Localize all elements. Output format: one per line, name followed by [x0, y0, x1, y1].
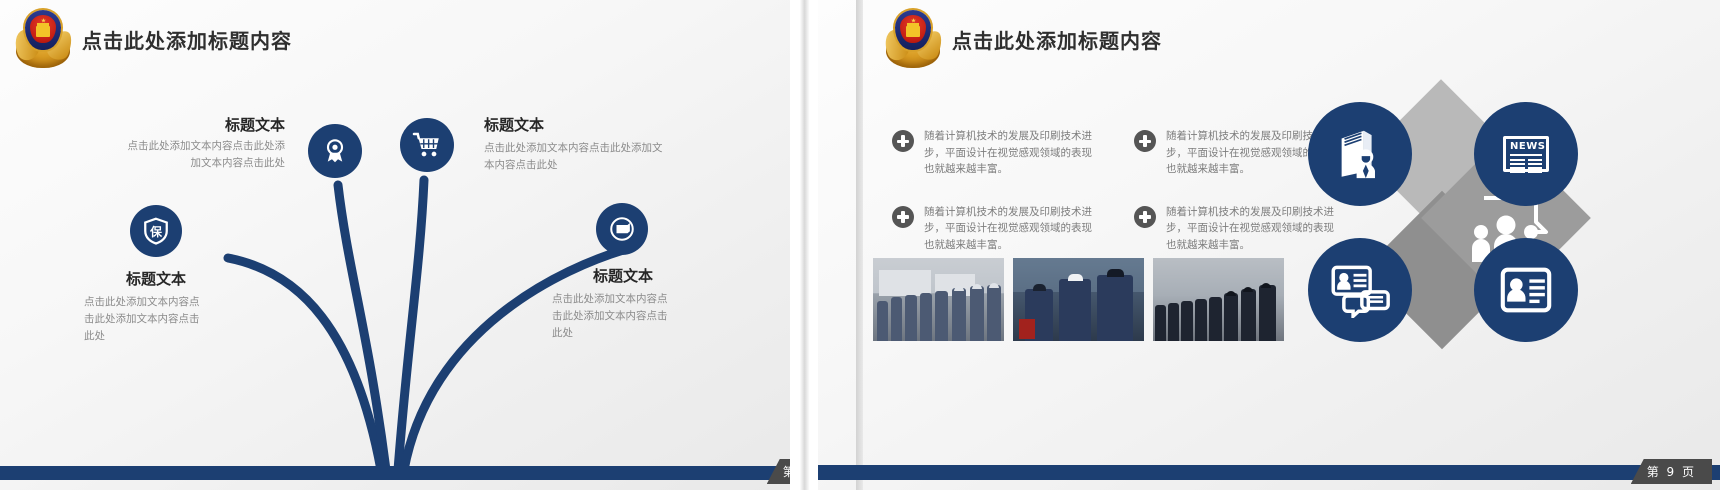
id-badge-icon [1497, 261, 1555, 319]
photo-police-officers-saluting[interactable] [1013, 258, 1144, 341]
circle-id-badge[interactable] [1474, 238, 1578, 342]
left-edge-rule [856, 0, 863, 490]
book-officer-icon [1331, 125, 1389, 183]
police-emblem-icon [884, 8, 942, 70]
node-award-icon-circle[interactable] [308, 124, 362, 178]
plus-icon [892, 206, 914, 228]
plus-icon [892, 130, 914, 152]
slide8-title: 点击此处添加标题内容 [82, 25, 292, 54]
bullet-text: 随着计算机技术的发展及印刷技术进步，平面设计在视觉感观领域的表现也就越来越丰富。 [924, 128, 1102, 178]
slide9-page-tab: 第 9 页 [1631, 459, 1712, 484]
slide8-page-label: 第 8 页 [783, 463, 790, 480]
bullet-item[interactable]: 随着计算机技术的发展及印刷技术进步，平面设计在视觉感观领域的表现也就越来越丰富。 [892, 128, 1102, 178]
plus-icon [1134, 130, 1156, 152]
slide9-page-label: 第 9 页 [1647, 463, 1696, 480]
node-award-body: 点击此处添加文本内容点击此处添 加文本内容点击此处 [20, 138, 285, 172]
news-label: NEWS [1510, 142, 1542, 156]
slide-page-8: 点击此处添加标题内容 标题文本 点击此处添加文本内容点击此处添 加文本内容点击此… [0, 0, 790, 490]
node-shield-body: 点击此处添加文本内容点 击此处添加文本内容点击 此处 [84, 294, 234, 345]
stem-lines-graphic [0, 0, 790, 490]
node-stamp-title: 标题文本 [548, 265, 698, 286]
node-cart-title: 标题文本 [484, 114, 744, 135]
bullet-grid: 随着计算机技术的发展及印刷技术进步，平面设计在视觉感观领域的表现也就越来越丰富。… [892, 128, 1344, 253]
diamond-icon-cluster: NEWS [1288, 96, 1688, 356]
node-award-title: 标题文本 [40, 114, 285, 135]
slide9-bottom-bar [818, 465, 1720, 480]
circle-id-chat[interactable] [1308, 238, 1412, 342]
police-emblem-icon [14, 8, 72, 70]
slide9-title: 点击此处添加标题内容 [952, 25, 1162, 54]
plus-icon [1134, 206, 1156, 228]
node-shield-icon-circle[interactable]: 保 [130, 205, 182, 257]
node-cart-body: 点击此处添加文本内容点击此处添加文 本内容点击此处 [484, 140, 764, 174]
presentation-stage: 点击此处添加标题内容 标题文本 点击此处添加文本内容点击此处添 加文本内容点击此… [0, 0, 1720, 490]
circle-news[interactable]: NEWS [1474, 102, 1578, 206]
svg-text:保: 保 [149, 225, 163, 239]
newspaper-icon: NEWS [1503, 136, 1549, 172]
slide-page-9: 点击此处添加标题内容 随着计算机技术的发展及印刷技术进步，平面设计在视觉感观领域… [818, 0, 1720, 490]
bullet-text: 随着计算机技术的发展及印刷技术进步，平面设计在视觉感观领域的表现也就越来越丰富。 [924, 204, 1102, 254]
slide8-page-tab: 第 8 页 [767, 459, 790, 484]
slide9-header: 点击此处添加标题内容 [884, 8, 1162, 70]
stamp-seal-icon [607, 214, 637, 244]
photo-row [873, 258, 1284, 341]
node-stamp-icon-circle[interactable] [596, 203, 648, 255]
slide-divider [790, 0, 818, 490]
photo-police-formation-black-uniform[interactable] [1153, 258, 1284, 341]
id-card-chat-icon [1330, 262, 1390, 318]
node-stamp-body: 点击此处添加文本内容点 击此处添加文本内容点击 此处 [552, 291, 704, 342]
node-cart-icon-circle[interactable] [400, 118, 454, 172]
slide8-header: 点击此处添加标题内容 [14, 8, 292, 70]
medal-award-icon [320, 136, 350, 166]
shopping-cart-icon [412, 130, 442, 160]
shield-bao-icon: 保 [141, 216, 171, 246]
photo-police-marching-blue-uniform[interactable] [873, 258, 1004, 341]
circle-book-officer[interactable] [1308, 102, 1412, 206]
node-shield-title: 标题文本 [80, 268, 232, 289]
bullet-item[interactable]: 随着计算机技术的发展及印刷技术进步，平面设计在视觉感观领域的表现也就越来越丰富。 [892, 204, 1102, 254]
